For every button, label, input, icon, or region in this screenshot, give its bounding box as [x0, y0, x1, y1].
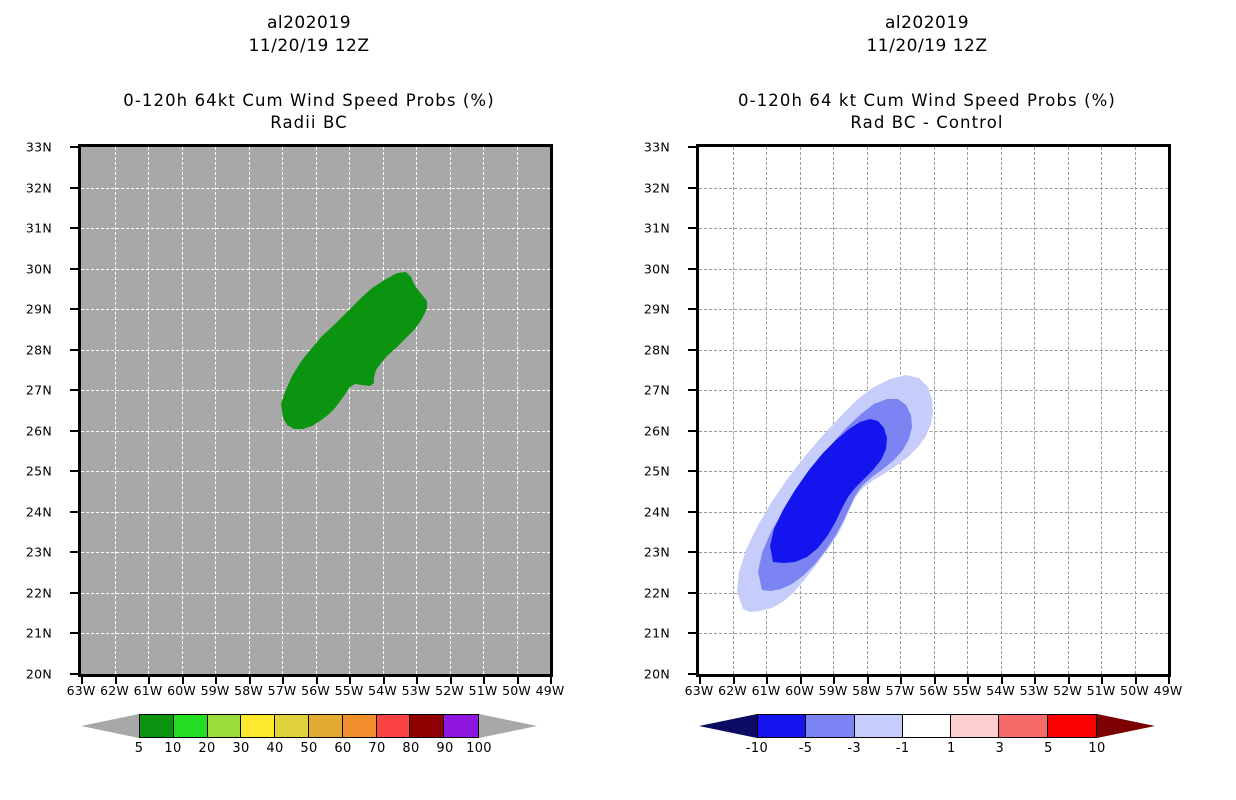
- colorbar-cell: [903, 715, 951, 737]
- y-tick-label: 22N: [26, 585, 52, 600]
- x-tick-label: 54W: [986, 683, 1015, 698]
- colorbar-tick-label: 40: [266, 741, 283, 756]
- x-tick-label: 61W: [134, 683, 163, 698]
- x-tick-label: 55W: [953, 683, 982, 698]
- x-tick-label: 50W: [502, 683, 531, 698]
- y-tick-mark: [70, 551, 78, 553]
- y-tick-label: 27N: [26, 383, 52, 398]
- colorbar-tick-label: 10: [164, 741, 181, 756]
- colorbar-tick-label: -5: [799, 741, 813, 756]
- map-plot-rad-bc-minus-control: [696, 144, 1171, 677]
- storm-id: al202019: [618, 12, 1236, 35]
- y-tick-label: 25N: [26, 464, 52, 479]
- colorbar-cell: [951, 715, 999, 737]
- y-tick-label: 31N: [26, 221, 52, 236]
- x-tick-label: 51W: [1087, 683, 1116, 698]
- colorbar-tick-label: 60: [334, 741, 351, 756]
- forecast-datetime: 11/20/19 12Z: [0, 35, 618, 58]
- colorbar-tick-label: 50: [300, 741, 317, 756]
- x-tick-label: 55W: [335, 683, 364, 698]
- x-tick-label: 53W: [402, 683, 431, 698]
- y-tick-label: 28N: [644, 342, 670, 357]
- y-tick-label: 30N: [26, 261, 52, 276]
- y-tick-label: 22N: [644, 585, 670, 600]
- y-tick-label: 30N: [644, 261, 670, 276]
- colorbar-cell: [241, 715, 275, 737]
- x-tick-label: 58W: [852, 683, 881, 698]
- x-tick-label: 52W: [1053, 683, 1082, 698]
- y-tick-label: 27N: [644, 383, 670, 398]
- y-tick-label: 33N: [644, 140, 670, 155]
- colorbar-tick-label: 90: [436, 741, 453, 756]
- x-tick-label: 56W: [301, 683, 330, 698]
- colorbar-under-arrow: [699, 714, 757, 738]
- x-tick-label: 57W: [268, 683, 297, 698]
- y-tick-mark: [688, 146, 696, 148]
- x-tick-label: 61W: [752, 683, 781, 698]
- colorbar-cell: [275, 715, 309, 737]
- panel-left-subtitle-main: 0-120h 64kt Cum Wind Speed Probs (%): [0, 90, 618, 112]
- colorbar-cell: [410, 715, 444, 737]
- y-tick-mark: [70, 187, 78, 189]
- y-tick-mark: [688, 673, 696, 675]
- y-tick-label: 33N: [26, 140, 52, 155]
- y-tick-mark: [70, 389, 78, 391]
- colorbar-body: [139, 714, 479, 738]
- panel-right-subtitle-main: 0-120h 64 kt Cum Wind Speed Probs (%): [618, 90, 1236, 112]
- colorbar-tick-label: 3: [996, 741, 1005, 756]
- y-tick-label: 25N: [644, 464, 670, 479]
- x-tick-label: 49W: [536, 683, 565, 698]
- y-tick-label: 32N: [644, 180, 670, 195]
- y-tick-mark: [70, 268, 78, 270]
- x-tick-label: 59W: [819, 683, 848, 698]
- colorbar-cell: [1048, 715, 1096, 737]
- colorbar-tick-label: 1: [947, 741, 956, 756]
- y-tick-mark: [70, 470, 78, 472]
- storm-id: al202019: [0, 12, 618, 35]
- colorbar-under-arrow: [81, 714, 139, 738]
- y-tick-mark: [688, 511, 696, 513]
- y-tick-mark: [688, 268, 696, 270]
- colorbar-cell: [174, 715, 208, 737]
- colorbar-tick-label: 30: [232, 741, 249, 756]
- y-tick-mark: [70, 227, 78, 229]
- y-tick-mark: [688, 551, 696, 553]
- colorbar-tick-label: 5: [1044, 741, 1053, 756]
- x-tick-label: 50W: [1120, 683, 1149, 698]
- y-tick-mark: [70, 308, 78, 310]
- colorbar-tick-label: 100: [466, 741, 492, 756]
- x-tick-label: 63W: [67, 683, 96, 698]
- colorbar-cell: [758, 715, 806, 737]
- contour-layer: [696, 144, 1171, 677]
- y-tick-label: 29N: [26, 302, 52, 317]
- y-tick-mark: [70, 349, 78, 351]
- colorbar-cell: [343, 715, 377, 737]
- x-tick-label: 54W: [368, 683, 397, 698]
- y-tick-mark: [688, 389, 696, 391]
- colorbar-tick-label: -3: [847, 741, 861, 756]
- y-tick-mark: [688, 308, 696, 310]
- y-tick-mark: [688, 227, 696, 229]
- panel-rad-bc-minus-control: al202019 11/20/19 12Z 0-120h 64 kt Cum W…: [618, 0, 1236, 800]
- colorbar-cell: [309, 715, 343, 737]
- colorbar-tick-label: 20: [198, 741, 215, 756]
- y-tick-label: 24N: [26, 504, 52, 519]
- colorbar-tick-label: 70: [368, 741, 385, 756]
- y-tick-mark: [70, 511, 78, 513]
- colorbar-rad-bc-minus-control: -10-5-3-113510: [618, 714, 1236, 774]
- y-tick-label: 23N: [644, 545, 670, 560]
- y-tick-label: 20N: [26, 667, 52, 682]
- colorbar-over-arrow: [479, 714, 537, 738]
- colorbar-cell: [855, 715, 903, 737]
- colorbar-tick-label: -10: [746, 741, 768, 756]
- y-tick-label: 21N: [26, 626, 52, 641]
- panel-left-subtitle-sub: Radii BC: [0, 112, 618, 134]
- panel-left-subtitle-block: 0-120h 64kt Cum Wind Speed Probs (%) Rad…: [0, 90, 618, 134]
- x-tick-label: 62W: [100, 683, 129, 698]
- x-tick-label: 60W: [167, 683, 196, 698]
- y-tick-label: 32N: [26, 180, 52, 195]
- x-tick-label: 51W: [469, 683, 498, 698]
- colorbar-cell: [806, 715, 854, 737]
- y-tick-label: 31N: [644, 221, 670, 236]
- y-tick-mark: [70, 592, 78, 594]
- y-tick-mark: [688, 632, 696, 634]
- x-tick-label: 63W: [685, 683, 714, 698]
- colorbar-tick-label: 80: [402, 741, 419, 756]
- panel-left-title-block: al202019 11/20/19 12Z: [0, 12, 618, 58]
- y-tick-label: 29N: [644, 302, 670, 317]
- y-tick-mark: [688, 349, 696, 351]
- x-tick-label: 52W: [435, 683, 464, 698]
- y-tick-mark: [70, 146, 78, 148]
- contour-region: [281, 272, 427, 429]
- y-tick-label: 24N: [644, 504, 670, 519]
- x-tick-label: 57W: [886, 683, 915, 698]
- y-tick-mark: [70, 430, 78, 432]
- y-tick-mark: [688, 592, 696, 594]
- y-tick-label: 26N: [26, 423, 52, 438]
- y-tick-label: 26N: [644, 423, 670, 438]
- colorbar-tick-label: 5: [135, 741, 144, 756]
- colorbar-cell: [208, 715, 242, 737]
- colorbar-body: [757, 714, 1097, 738]
- y-tick-mark: [688, 430, 696, 432]
- y-tick-label: 28N: [26, 342, 52, 357]
- panel-radii-bc: al202019 11/20/19 12Z 0-120h 64kt Cum Wi…: [0, 0, 618, 800]
- y-tick-mark: [688, 187, 696, 189]
- forecast-datetime: 11/20/19 12Z: [618, 35, 1236, 58]
- x-tick-label: 60W: [785, 683, 814, 698]
- colorbar-tick-label: -1: [896, 741, 910, 756]
- panel-right-subtitle-block: 0-120h 64 kt Cum Wind Speed Probs (%) Ra…: [618, 90, 1236, 134]
- x-tick-label: 62W: [718, 683, 747, 698]
- y-tick-mark: [688, 470, 696, 472]
- y-tick-label: 21N: [644, 626, 670, 641]
- colorbar-cell: [140, 715, 174, 737]
- panel-right-subtitle-sub: Rad BC - Control: [618, 112, 1236, 134]
- x-tick-label: 59W: [201, 683, 230, 698]
- y-tick-label: 20N: [644, 667, 670, 682]
- x-tick-label: 53W: [1020, 683, 1049, 698]
- colorbar-cell: [999, 715, 1047, 737]
- colorbar-radii-bc: 5102030405060708090100: [0, 714, 618, 774]
- x-tick-label: 49W: [1154, 683, 1183, 698]
- y-tick-mark: [70, 632, 78, 634]
- panel-right-title-block: al202019 11/20/19 12Z: [618, 12, 1236, 58]
- map-plot-radii-bc: [78, 144, 553, 677]
- colorbar-over-arrow: [1097, 714, 1155, 738]
- x-tick-label: 56W: [919, 683, 948, 698]
- colorbar-tick-label: 10: [1088, 741, 1105, 756]
- x-tick-label: 58W: [234, 683, 263, 698]
- y-tick-label: 23N: [26, 545, 52, 560]
- y-tick-mark: [70, 673, 78, 675]
- colorbar-cell: [444, 715, 478, 737]
- contour-layer: [78, 144, 553, 677]
- colorbar-cell: [377, 715, 411, 737]
